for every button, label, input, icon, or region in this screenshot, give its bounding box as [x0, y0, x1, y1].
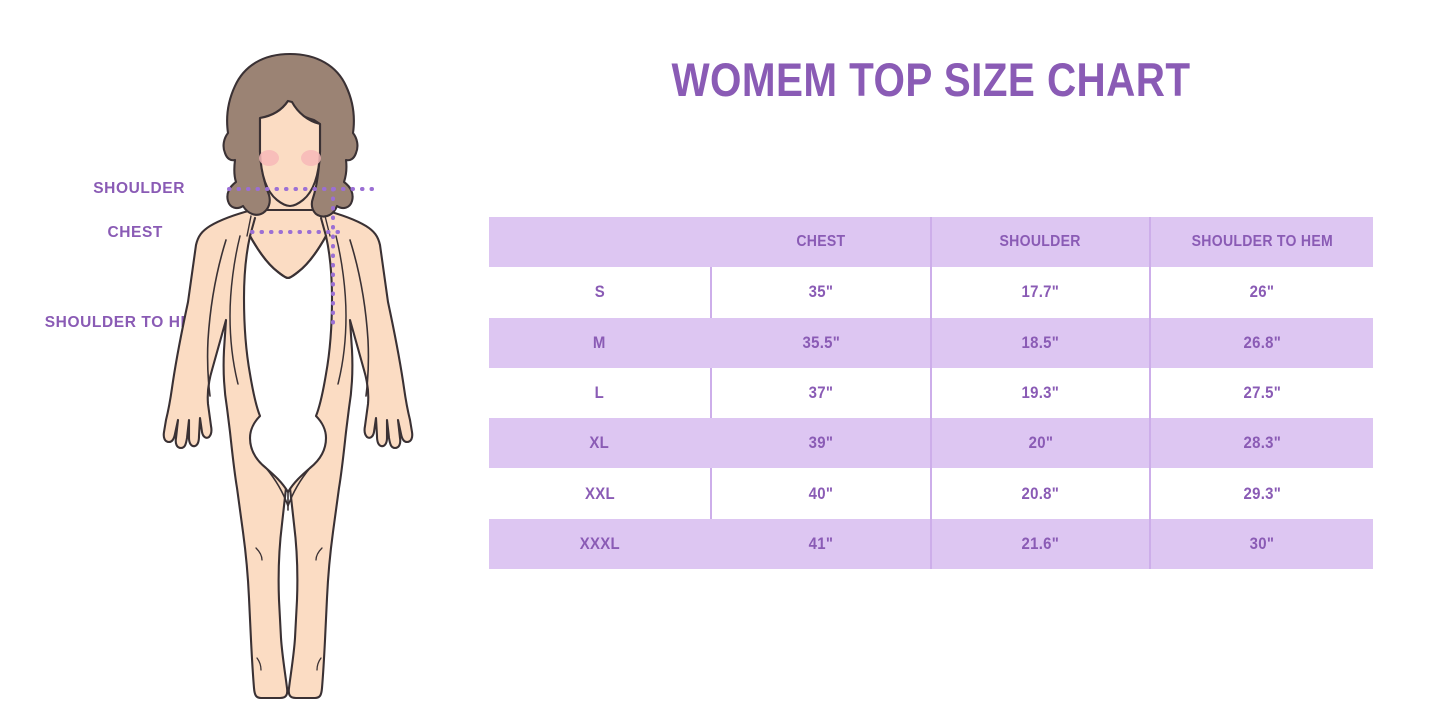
blush-right	[301, 150, 321, 166]
blush-left	[259, 150, 279, 166]
cell-size: XL	[489, 418, 711, 468]
cell-size: M	[489, 318, 711, 368]
table-row: XXL 40" 20.8" 29.3"	[489, 468, 1373, 518]
table-row: XXXL 41" 21.6" 30"	[489, 519, 1373, 569]
cell-chest: 35.5"	[711, 318, 931, 368]
cell-shoulder-to-hem: 29.3"	[1150, 468, 1373, 518]
table-row: L 37" 19.3" 27.5"	[489, 368, 1373, 418]
cell-chest: 37"	[711, 368, 931, 418]
column-header-shoulder-to-hem: SHOULDER TO HEM	[1150, 217, 1373, 267]
cell-shoulder: 20.8"	[931, 468, 1150, 518]
table-row: S 35" 17.7" 26"	[489, 267, 1373, 317]
table-header-row: CHEST SHOULDER SHOULDER TO HEM	[489, 217, 1373, 267]
cell-shoulder-to-hem: 26"	[1150, 267, 1373, 317]
cell-size: XXXL	[489, 519, 711, 569]
column-header-size	[489, 217, 711, 267]
cell-shoulder-to-hem: 27.5"	[1150, 368, 1373, 418]
cell-size: L	[489, 368, 711, 418]
column-header-shoulder: SHOULDER	[931, 217, 1150, 267]
page-title: WOMEM TOP SIZE CHART	[551, 52, 1311, 107]
cell-shoulder: 18.5"	[931, 318, 1150, 368]
cell-shoulder: 19.3"	[931, 368, 1150, 418]
cell-size: XXL	[489, 468, 711, 518]
cell-chest: 39"	[711, 418, 931, 468]
cell-shoulder: 17.7"	[931, 267, 1150, 317]
cell-chest: 35"	[711, 267, 931, 317]
cell-shoulder: 20"	[931, 418, 1150, 468]
table-row: M 35.5" 18.5" 26.8"	[489, 318, 1373, 368]
cell-shoulder-to-hem: 28.3"	[1150, 418, 1373, 468]
cell-shoulder-to-hem: 26.8"	[1150, 318, 1373, 368]
size-chart-table: CHEST SHOULDER SHOULDER TO HEM S 35" 17.…	[489, 217, 1373, 569]
cell-chest: 41"	[711, 519, 931, 569]
size-chart-page: WOMEM TOP SIZE CHART SHOULDER CHEST SHOU…	[0, 0, 1445, 723]
cell-shoulder-to-hem: 30"	[1150, 519, 1373, 569]
female-body-illustration	[130, 40, 450, 700]
column-header-chest: CHEST	[711, 217, 931, 267]
cell-size: S	[489, 267, 711, 317]
cell-chest: 40"	[711, 468, 931, 518]
cell-shoulder: 21.6"	[931, 519, 1150, 569]
table-row: XL 39" 20" 28.3"	[489, 418, 1373, 468]
